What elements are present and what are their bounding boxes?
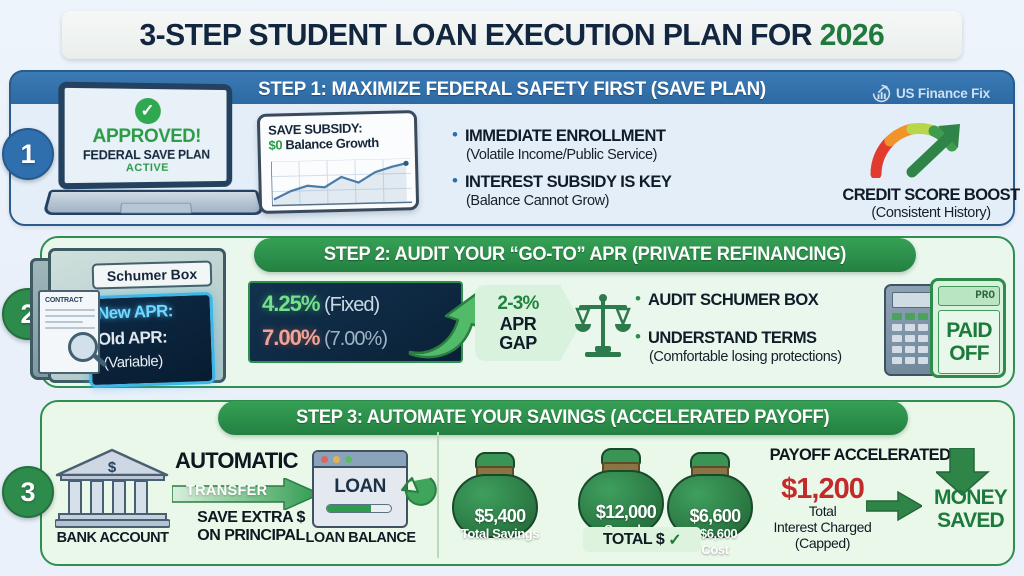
bag-amount: $5,400 xyxy=(454,506,546,527)
total-chip: TOTAL $ ✓ xyxy=(583,527,701,552)
total-chip-label: TOTAL $ xyxy=(603,531,664,549)
paid-off-panel: PRO PAID OFF xyxy=(930,278,1006,378)
bag-body: $12,000 Saved - xyxy=(578,470,664,534)
bag-body: $5,400 Total Savings xyxy=(452,474,538,538)
bullet-sub: (Balance Cannot Grow) xyxy=(466,192,671,210)
page-title: 3-STEP STUDENT LOAN EXECUTION PLAN FOR 2… xyxy=(140,17,885,53)
step2-bullet-1: • AUDIT SCHUMER BOX xyxy=(635,290,818,310)
step3-header-label: STEP 3: AUTOMATE YOUR SAVINGS (ACCELERAT… xyxy=(296,407,829,429)
variable-label: (Variable) xyxy=(103,353,162,372)
bullet-heading: UNDERSTAND TERMS xyxy=(648,328,817,348)
old-apr-row: 7.00% (7.00%) xyxy=(262,325,387,351)
new-apr-note: (Fixed) xyxy=(319,294,379,316)
apr-gap-line2: GAP xyxy=(499,334,537,353)
money-saved-line2: SAVED xyxy=(918,509,1023,532)
contract-document-icon: CONTRACT xyxy=(38,290,100,374)
new-apr-label: New APR: xyxy=(97,301,173,324)
loan-balance-label: LOAN BALANCE xyxy=(288,530,433,546)
chart-arrow-icon xyxy=(872,84,891,103)
loan-window-title: LOAN xyxy=(314,476,406,498)
browser-window-icon: LOAN xyxy=(312,450,408,528)
schumer-box-label: Schumer Box xyxy=(92,260,213,289)
section-divider xyxy=(437,432,439,558)
plan-status: ACTIVE xyxy=(126,161,169,173)
svg-text:$: $ xyxy=(108,459,117,476)
caption-line3: (Capped) xyxy=(740,535,905,551)
bullet-heading: AUDIT SCHUMER BOX xyxy=(648,290,818,310)
old-apr-note: (7.00%) xyxy=(319,328,387,350)
schumer-box-illustration: Schumer Box New APR: Old APR: (Variable)… xyxy=(26,240,236,388)
paid-off-line2: OFF xyxy=(949,342,989,365)
page-title-bar: 3-STEP STUDENT LOAN EXECUTION PLAN FOR 2… xyxy=(62,11,962,59)
contract-title: CONTRACT xyxy=(45,297,83,304)
old-apr-value: 7.00% xyxy=(262,325,319,350)
bullet-sub: (Comfortable losing protections) xyxy=(649,348,842,366)
refresh-circular-arrow-icon xyxy=(396,468,440,512)
loan-progress-bar xyxy=(326,504,392,513)
apr-gap-badge: 2-3% APR GAP xyxy=(475,285,561,361)
calculator-pro-label: PRO xyxy=(938,286,1000,306)
bag-amount: $12,000 xyxy=(580,502,672,523)
automatic-label: AUTOMATIC xyxy=(175,448,298,474)
step2-bullet-2: • UNDERSTAND TERMS (Comfortable losing p… xyxy=(635,328,842,366)
balance-scales-icon xyxy=(575,290,631,362)
step3-number-badge: 3 xyxy=(2,466,54,518)
old-apr-label: Old APR: xyxy=(98,327,168,349)
gauge-subtitle: (Consistent History) xyxy=(838,205,1024,221)
money-bag-2: $12,000 Saved - xyxy=(575,448,667,534)
credit-gauge-icon xyxy=(868,122,994,178)
arrow-right-icon-2 xyxy=(866,490,922,522)
bank-icon: $ xyxy=(55,448,170,528)
gauge-title: CREDIT SCORE BOOST xyxy=(838,186,1024,205)
money-bag-1: $5,400 Total Savings xyxy=(449,452,541,538)
credit-score-boost-block: CREDIT SCORE BOOST (Consistent History) xyxy=(838,122,1024,221)
money-saved-label: MONEY SAVED xyxy=(918,486,1023,532)
new-apr-value: 4.25% xyxy=(262,291,319,316)
paid-off-line1: PAID xyxy=(946,319,991,342)
save-extra-line1: SAVE EXTRA $ xyxy=(176,509,326,527)
infographic-root: 3-STEP STUDENT LOAN EXECUTION PLAN FOR 2… xyxy=(0,0,1024,576)
window-titlebar xyxy=(314,452,406,468)
laptop-trackpad xyxy=(120,203,192,214)
step2-header-label: STEP 2: AUDIT YOUR “GO-TO” APR (PRIVATE … xyxy=(324,244,846,266)
chart-card-amount: $0 xyxy=(268,137,282,152)
payoff-accelerated-label: PAYOFF ACCELERATED xyxy=(760,446,960,465)
apr-screen: New APR: Old APR: (Variable) xyxy=(86,292,215,388)
laptop-base xyxy=(42,190,264,215)
laptop-screen: ✓ APPROVED! FEDERAL SAVE PLAN ACTIVE xyxy=(58,82,232,190)
brand-name: US Finance Fix xyxy=(896,86,990,101)
money-saved-line1: MONEY xyxy=(918,486,1023,509)
laptop-illustration: ✓ APPROVED! FEDERAL SAVE PLAN ACTIVE xyxy=(46,83,261,223)
chart-card-subtitle: $0 Balance Growth xyxy=(268,134,406,152)
title-year: 2026 xyxy=(820,17,885,52)
step1-bullet-2: • INTEREST SUBSIDY IS KEY (Balance Canno… xyxy=(452,172,671,210)
check-circle-icon: ✓ xyxy=(135,97,161,123)
bullet-dot-icon: • xyxy=(635,328,641,346)
bullet-dot-icon: • xyxy=(452,172,458,190)
bullet-sub: (Volatile Income/Public Service) xyxy=(466,146,665,164)
paid-off-text: PAID OFF xyxy=(938,310,1000,374)
transfer-label: TRANSFER xyxy=(186,483,267,499)
new-apr-row: 4.25% (Fixed) xyxy=(262,291,379,317)
apr-gap-line1: APR xyxy=(500,315,537,334)
plan-label: FEDERAL SAVE PLAN xyxy=(83,147,210,162)
bank-account-label: BANK ACCOUNT xyxy=(40,530,185,546)
balance-growth-line-chart xyxy=(271,158,412,207)
apr-gap-percent: 2-3% xyxy=(497,293,538,315)
step2-header-pill: STEP 2: AUDIT YOUR “GO-TO” APR (PRIVATE … xyxy=(254,238,916,272)
bag-caption: Total Savings xyxy=(454,526,546,541)
save-subsidy-chart-card: SAVE SUBSIDY: $0 Balance Growth xyxy=(257,110,419,214)
step1-bullet-1: • IMMEDIATE ENROLLMENT (Volatile Income/… xyxy=(452,126,665,164)
brand-logo: US Finance Fix xyxy=(872,84,990,103)
bullet-dot-icon: • xyxy=(452,126,458,144)
approved-label: APPROVED! xyxy=(92,125,201,147)
bullet-heading: IMMEDIATE ENROLLMENT xyxy=(465,126,666,146)
step3-header-pill: STEP 3: AUTOMATE YOUR SAVINGS (ACCELERAT… xyxy=(218,401,908,435)
bullet-heading: INTEREST SUBSIDY IS KEY xyxy=(465,172,671,192)
bullet-dot-icon: • xyxy=(635,290,641,308)
check-mark-icon: ✓ xyxy=(668,530,681,550)
